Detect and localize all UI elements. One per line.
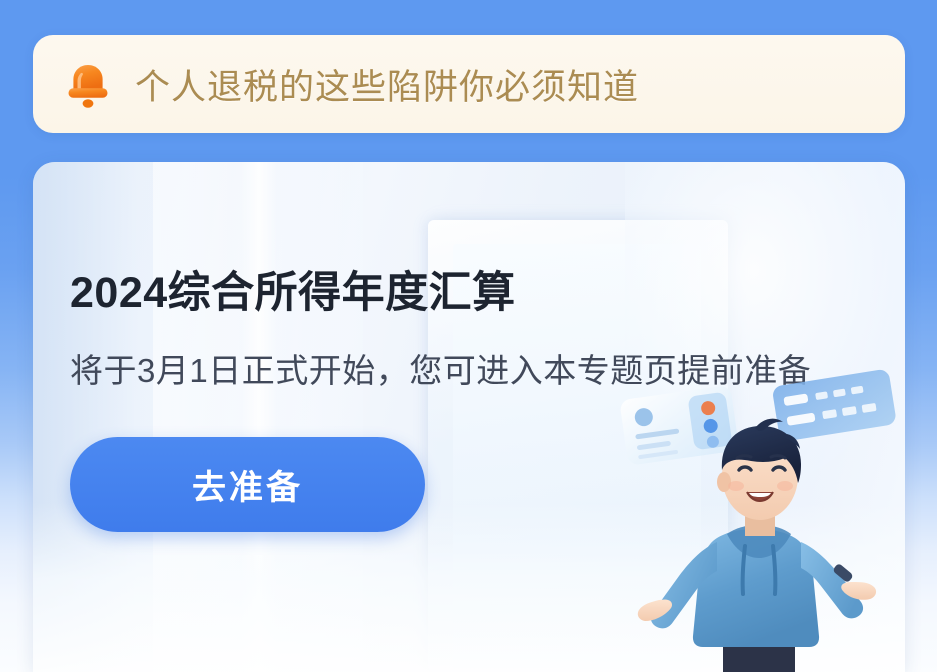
go-prepare-button[interactable]: 去准备: [70, 437, 425, 532]
floating-profile-card: [619, 385, 739, 466]
page-title: 2024综合所得年度汇算: [70, 258, 516, 320]
promo-screen: 个人退税的这些陷阱你必须知道 2024综合所得年度汇算 将于3月1日正式开始，您…: [0, 0, 937, 672]
notice-text: 个人退税的这些陷阱你必须知道: [135, 59, 639, 110]
backdrop-glow: [625, 162, 905, 522]
backdrop-light-streak: [241, 162, 277, 672]
bell-icon: [57, 53, 119, 115]
promo-card[interactable]: 2024综合所得年度汇算 将于3月1日正式开始，您可进入本专题页提前准备 去准备: [33, 162, 905, 672]
backdrop-panel: [153, 162, 363, 672]
page-subtitle: 将于3月1日正式开始，您可进入本专题页提前准备: [70, 344, 811, 392]
backdrop-pillar-left: [33, 162, 183, 672]
notice-banner[interactable]: 个人退税的这些陷阱你必须知道: [33, 35, 905, 133]
